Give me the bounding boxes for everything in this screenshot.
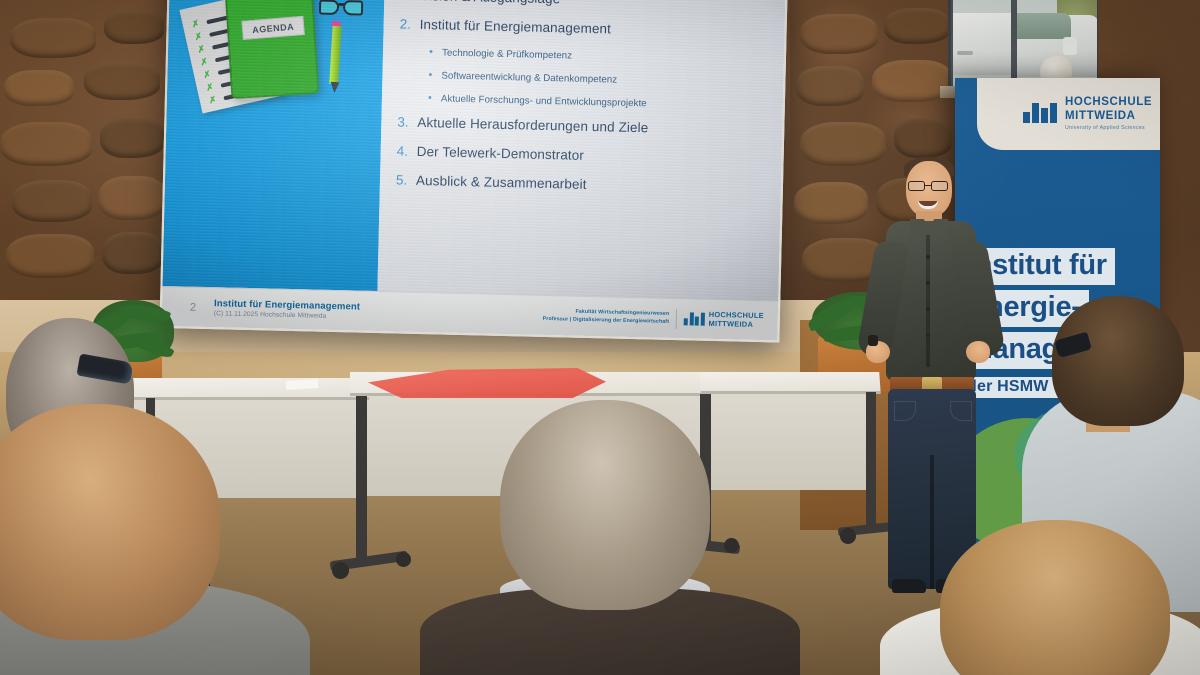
banner-logo-line2: MITTWEIDA — [1065, 110, 1152, 124]
stone-block — [98, 176, 166, 220]
projection-screen: ✗ ✗ ✗ ✗ ✗ ✗ ✗ AGENDA — [159, 0, 787, 343]
agenda-entry: 1. Vision & Ausgangslage — [400, 0, 773, 11]
folding-table — [699, 372, 881, 394]
agenda-label: Aktuelle Herausforderungen und Ziele — [417, 115, 648, 135]
agenda-sub-label: Aktuelle Forschungs- und Entwicklungspro… — [441, 93, 647, 109]
slide-logo-line2: MITTWEIDA — [708, 319, 763, 329]
stone-block — [0, 122, 92, 166]
banner-logo-line1: HOCHSCHULE — [1065, 96, 1152, 110]
folding-table — [119, 378, 371, 400]
audience-center-head — [500, 400, 710, 610]
stone-block — [84, 62, 160, 100]
agenda-number: 3. — [397, 114, 417, 129]
car-outside — [953, 13, 1011, 75]
presenter-hand-right — [966, 341, 990, 363]
pencil-tip-icon — [330, 82, 340, 94]
agenda-number: 4. — [397, 143, 417, 158]
agenda-illustration: ✗ ✗ ✗ ✗ ✗ ✗ ✗ AGENDA — [184, 0, 367, 127]
table-caster — [396, 552, 411, 567]
presentation-slide: ✗ ✗ ✗ ✗ ✗ ✗ ✗ AGENDA — [162, 0, 786, 340]
hochschule-mittweida-logo: HOCHSCHULE MITTWEIDA University of Appli… — [1023, 96, 1152, 131]
agenda-sub-entry: • Softwareentwicklung & Datenkompetenz — [428, 69, 771, 89]
table-leg — [356, 396, 367, 566]
bullet-dot-icon: • — [428, 92, 441, 104]
presenter-glasses-icon — [908, 181, 950, 192]
agenda-label: Institut für Energiemanagement — [420, 17, 612, 37]
window — [948, 0, 1098, 90]
agenda-label: Ausblick & Zusammenarbeit — [416, 173, 587, 192]
slide-hsmw-logo: HOCHSCHULE MITTWEIDA — [684, 310, 764, 329]
bullet-dot-icon: • — [429, 46, 442, 58]
audience-right-back-head — [1052, 296, 1184, 426]
table-apron — [706, 392, 876, 490]
hsmw-mark-icon — [1023, 103, 1057, 123]
agenda-entry: 5. Ausblick & Zusammenarbeit — [396, 172, 769, 196]
agenda-label: Der Telewerk-Demonstrator — [417, 144, 585, 163]
footer-divider — [676, 309, 677, 329]
agenda-number: 1. — [400, 0, 420, 3]
agenda-number: 2. — [400, 16, 420, 31]
stone-block — [100, 118, 164, 158]
slide-graphic-panel: ✗ ✗ ✗ ✗ ✗ ✗ ✗ AGENDA — [162, 0, 384, 291]
eyeglasses-icon — [319, 0, 366, 21]
white-paper-slip — [286, 379, 318, 390]
window-pane-left — [953, 0, 1011, 87]
presenter-jeans-pocket — [950, 401, 972, 421]
stone-block — [894, 118, 952, 158]
car-side-mirror — [1063, 37, 1077, 55]
stone-block — [104, 10, 164, 44]
presenter-jeans-seam — [930, 455, 934, 589]
agenda-list: 1. Vision & Ausgangslage 2. Institut für… — [396, 0, 774, 196]
table-caster — [840, 528, 856, 544]
slide-page-number: 2 — [176, 301, 210, 314]
agenda-entry: 4. Der Telewerk-Demonstrator — [397, 143, 770, 167]
stone-block — [12, 180, 92, 222]
pencil-icon — [329, 26, 341, 84]
car-door-handle — [957, 51, 973, 55]
banner-logo-line3: University of Applied Sciences — [1065, 125, 1152, 131]
banner-header-block: HOCHSCHULE MITTWEIDA University of Appli… — [977, 78, 1160, 150]
presenter-shoe — [892, 579, 926, 593]
audience-left-fore-head — [0, 404, 220, 640]
bullet-dot-icon: • — [428, 69, 441, 81]
agenda-notebook-icon: AGENDA — [225, 0, 319, 99]
stone-block — [884, 8, 950, 44]
table-caster — [724, 538, 739, 553]
stone-block — [800, 14, 878, 54]
table-caster — [332, 562, 349, 579]
stone-block — [4, 70, 74, 106]
agenda-sub-label: Softwareentwicklung & Datenkompetenz — [441, 70, 617, 85]
stone-block — [794, 182, 868, 224]
agenda-sub-entry: • Technologie & Prüfkompetenz — [429, 46, 772, 66]
slide-content-panel: 1. Vision & Ausgangslage 2. Institut für… — [377, 0, 785, 300]
hsmw-mark-icon — [684, 312, 705, 325]
agenda-book-label: AGENDA — [241, 16, 304, 40]
agenda-entry: 2. Institut für Energiemanagement • Tech… — [398, 16, 773, 112]
stone-block — [102, 232, 164, 274]
stone-block — [10, 18, 96, 58]
stone-block — [796, 66, 864, 106]
agenda-sub-entry: • Aktuelle Forschungs- und Entwicklungsp… — [428, 92, 771, 112]
photo-scene: HOCHSCHULE MITTWEIDA University of Appli… — [0, 0, 1200, 675]
stone-block — [6, 234, 94, 278]
presenter-clicker-icon — [868, 335, 878, 346]
car-window — [1017, 13, 1071, 39]
agenda-number: 5. — [396, 172, 416, 187]
agenda-sub-label: Technologie & Prüfkompetenz — [442, 47, 572, 61]
agenda-entry: 3. Aktuelle Herausforderungen und Ziele — [397, 114, 770, 138]
agenda-label: Vision & Ausgangslage — [420, 0, 560, 6]
